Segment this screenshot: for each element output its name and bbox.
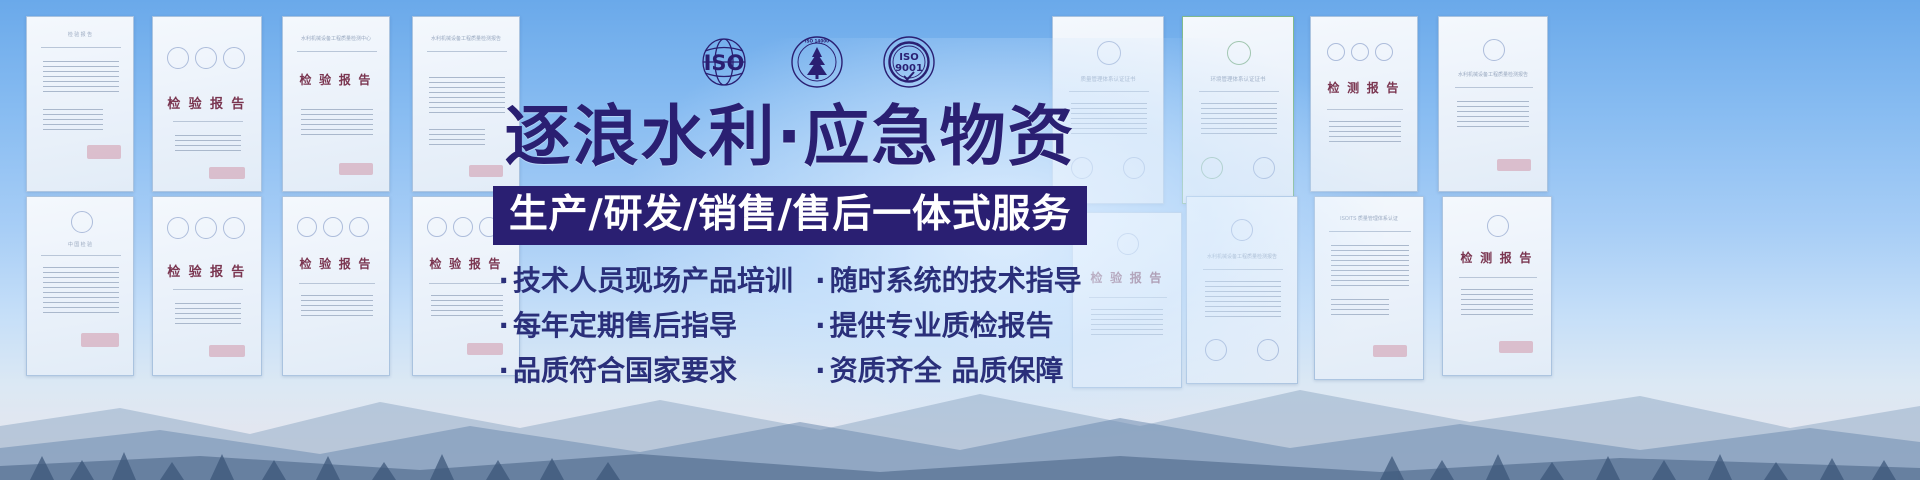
certificate-heading: 中 国 检 验 bbox=[27, 241, 133, 248]
feature-item: · 技术人员现场产品培训 bbox=[498, 267, 793, 295]
page-title: 逐浪水利·应急物资 bbox=[505, 104, 1076, 170]
certificate-title: 检 验 报 告 bbox=[283, 71, 389, 88]
certificate-card: 环境管理体系认证证书 bbox=[1182, 16, 1294, 204]
certificate-heading: 水利机械设备工程质量检测报告 bbox=[413, 35, 519, 42]
bullet-marker: · bbox=[498, 312, 509, 340]
bullet-marker: · bbox=[815, 312, 826, 340]
feature-item: · 资质齐全 品质保障 bbox=[815, 357, 1082, 385]
certificate-heading: 水利机械设备工程质量检测报告 bbox=[1439, 71, 1547, 78]
bullet-marker: · bbox=[815, 357, 826, 385]
feature-label: 每年定期售后指导 bbox=[513, 312, 737, 340]
feature-item: · 随时系统的技术指导 bbox=[815, 267, 1082, 295]
certificate-card: 水利机械设备工程质量检测中心 检 验 报 告 bbox=[282, 16, 390, 192]
certificate-heading: ISO/TS 质量管理体系认证 bbox=[1315, 215, 1423, 222]
service-subtitle-bar: 生产/研发/销售/售后一体式服务 bbox=[493, 186, 1087, 245]
certificate-card: 检 测 报 告 bbox=[1310, 16, 1418, 192]
certificate-heading: 水利机械设备工程质量检测报告 bbox=[1187, 253, 1297, 260]
iso-badge-row: ISO ISO 14000 ISO 9001 bbox=[694, 34, 938, 90]
svg-text:ISO 14000: ISO 14000 bbox=[805, 39, 829, 44]
certificate-title: 检 验 报 告 bbox=[153, 261, 261, 280]
promo-banner: 检 验 报 告 检 验 报 告 水利机械设备工程质量检测中心 检 验 报 告 水… bbox=[0, 0, 1920, 480]
certificate-title: 检 测 报 告 bbox=[1311, 79, 1417, 96]
certificate-title: 检 验 报 告 bbox=[283, 255, 389, 272]
certificate-heading: 检 验 报 告 bbox=[27, 31, 133, 38]
certificate-title: 检 验 报 告 bbox=[1073, 269, 1181, 286]
feature-item: · 提供专业质检报告 bbox=[815, 312, 1082, 340]
feature-list: · 技术人员现场产品培训 · 随时系统的技术指导 · 每年定期售后指导 · 提供… bbox=[498, 267, 1081, 385]
certificate-title: 检 验 报 告 bbox=[153, 93, 261, 112]
certificate-title: 检 测 报 告 bbox=[1443, 249, 1551, 266]
feature-label: 资质齐全 品质保障 bbox=[830, 357, 1064, 385]
feature-label: 随时系统的技术指导 bbox=[830, 267, 1082, 295]
bullet-marker: · bbox=[815, 267, 826, 295]
iso-globe-badge: ISO bbox=[694, 35, 754, 89]
feature-label: 品质符合国家要求 bbox=[513, 357, 737, 385]
headline-block: 逐浪水利·应急物资 生产/研发/销售/售后一体式服务 · 技术人员现场产品培训 … bbox=[505, 104, 1075, 385]
certificate-heading: 质量管理体系认证证书 bbox=[1053, 75, 1163, 83]
iso-14000-badge: ISO 14000 bbox=[788, 34, 846, 90]
certificate-card: 检 验 报 告 bbox=[26, 16, 134, 192]
certificate-heading: 环境管理体系认证证书 bbox=[1183, 75, 1293, 83]
bullet-marker: · bbox=[498, 267, 509, 295]
iso-9001-badge: ISO 9001 bbox=[880, 34, 938, 90]
feature-item: · 品质符合国家要求 bbox=[498, 357, 793, 385]
bullet-marker: · bbox=[498, 357, 509, 385]
feature-item: · 每年定期售后指导 bbox=[498, 312, 793, 340]
svg-text:9001: 9001 bbox=[895, 63, 923, 74]
certificate-heading: 水利机械设备工程质量检测中心 bbox=[283, 35, 389, 42]
certificate-card: 水利机械设备工程质量检测报告 bbox=[1438, 16, 1548, 192]
feature-label: 提供专业质检报告 bbox=[830, 312, 1054, 340]
svg-text:ISO: ISO bbox=[704, 51, 745, 75]
feature-label: 技术人员现场产品培训 bbox=[513, 267, 793, 295]
certificate-card: 检 验 报 告 bbox=[152, 16, 262, 192]
svg-text:ISO: ISO bbox=[899, 52, 918, 63]
